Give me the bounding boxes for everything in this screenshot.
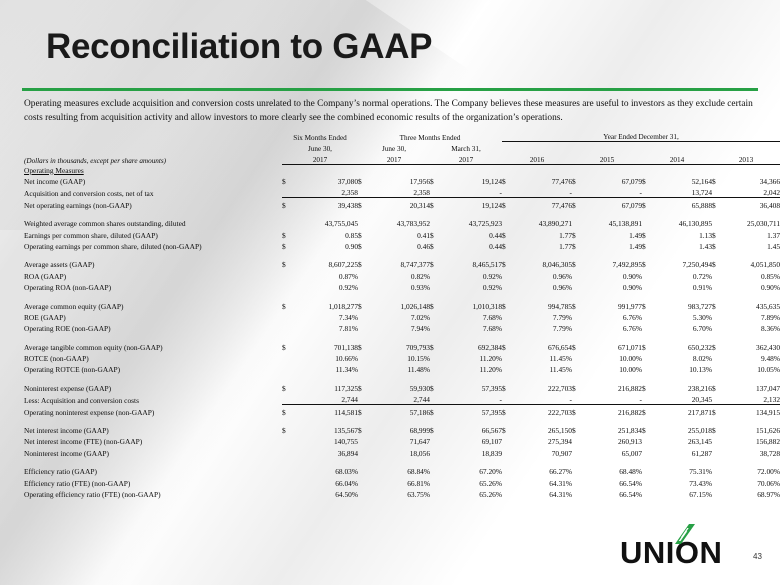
row-label: Average assets (GAAP)	[24, 258, 282, 269]
currency-symbol: $	[712, 198, 722, 210]
cell-value: 151,626	[722, 424, 780, 435]
cell-value: 0.72%	[652, 269, 712, 280]
cell-value: 71,647	[368, 435, 430, 446]
column-header-3: 2016	[502, 153, 572, 165]
currency-symbol	[430, 465, 440, 476]
cell-value: 70.06%	[722, 476, 780, 487]
currency-symbol	[502, 186, 512, 198]
cell-value: 8.02%	[652, 352, 712, 363]
currency-symbol	[642, 465, 652, 476]
row-label: Acquisition and conversion costs, net of…	[24, 186, 282, 198]
cell-value: 11.34%	[292, 363, 358, 374]
cell-value: 7,492,895	[582, 258, 642, 269]
section-label-operating-measures: Operating Measures	[24, 165, 282, 175]
currency-symbol: $	[358, 175, 368, 186]
row-label: Net interest income (GAAP)	[24, 424, 282, 435]
currency-symbol	[572, 363, 582, 374]
row-label: Net interest income (FTE) (non-GAAP)	[24, 435, 282, 446]
row-spacer	[24, 417, 780, 424]
cell-value: 1,018,277	[292, 299, 358, 310]
cell-value: 1.49	[582, 240, 642, 251]
table-header: Six Months Ended Three Months Ended Year…	[24, 130, 780, 175]
cell-value: 64.50%	[292, 488, 358, 499]
section-label-row: Operating Measures	[24, 165, 780, 175]
units-note: (Dollars in thousands, except per share …	[24, 153, 282, 165]
cell-value: 10.00%	[582, 352, 642, 363]
header-three-months-date-1: June 30,	[358, 142, 430, 154]
currency-symbol	[430, 311, 440, 322]
cell-value: 435,635	[722, 299, 780, 310]
table-row: ROA (GAAP)0.87%0.82%0.92%0.96%0.90%0.72%…	[24, 269, 780, 280]
currency-symbol	[642, 311, 652, 322]
currency-symbol: $	[502, 175, 512, 186]
cell-value: 68.48%	[582, 465, 642, 476]
currency-symbol	[502, 352, 512, 363]
column-header-1: 2017	[358, 153, 430, 165]
cell-value: 1.77	[512, 240, 572, 251]
cell-value: 43,783,952	[368, 217, 430, 228]
currency-symbol	[282, 488, 292, 499]
cell-value: 216,882	[582, 405, 642, 417]
cell-value: 66,567	[440, 424, 502, 435]
table-row: Noninterest expense (GAAP)$117,325$59,93…	[24, 381, 780, 392]
currency-symbol	[502, 488, 512, 499]
currency-symbol: $	[572, 299, 582, 310]
cell-value: 0.92%	[440, 269, 502, 280]
cell-value: 216,882	[582, 381, 642, 392]
cell-value: 66.54%	[582, 476, 642, 487]
cell-value: 39,438	[292, 198, 358, 210]
cell-value: 1.37	[722, 228, 780, 239]
cell-value: 36,408	[722, 198, 780, 210]
cell-value: 8,747,377	[368, 258, 430, 269]
cell-value: 7,250,494	[652, 258, 712, 269]
cell-value: 75.31%	[652, 465, 712, 476]
cell-value: 0.46	[368, 240, 430, 251]
currency-symbol: $	[358, 299, 368, 310]
currency-symbol	[712, 446, 722, 457]
cell-value: 45,138,891	[582, 217, 642, 228]
cell-value: 0.90	[292, 240, 358, 251]
cell-value: 0.87%	[292, 269, 358, 280]
currency-symbol	[430, 217, 440, 228]
cell-value: 10.66%	[292, 352, 358, 363]
cell-value: 11.20%	[440, 363, 502, 374]
table-row: Net operating earnings (non-GAAP)$39,438…	[24, 198, 780, 210]
cell-value: 0.44	[440, 240, 502, 251]
table-row: Earnings per common share, diluted (GAAP…	[24, 228, 780, 239]
table-row: Operating noninterest expense (non-GAAP)…	[24, 405, 780, 417]
currency-symbol	[642, 352, 652, 363]
cell-value: 117,325	[292, 381, 358, 392]
cell-value: 1.13	[652, 228, 712, 239]
cell-value: 0.92%	[292, 281, 358, 292]
currency-symbol	[712, 393, 722, 405]
cell-value: 2,358	[292, 186, 358, 198]
currency-symbol	[642, 281, 652, 292]
cell-value: 1.77	[512, 228, 572, 239]
row-label: Net income (GAAP)	[24, 175, 282, 186]
currency-symbol: $	[358, 340, 368, 351]
currency-symbol: $	[358, 240, 368, 251]
cell-value: 67.20%	[440, 465, 502, 476]
currency-symbol	[502, 393, 512, 405]
currency-symbol: $	[712, 405, 722, 417]
currency-symbol	[358, 281, 368, 292]
cell-value: 65,888	[652, 198, 712, 210]
cell-value: 18,839	[440, 446, 502, 457]
intro-paragraph: Operating measures exclude acquisition a…	[24, 97, 758, 125]
currency-symbol	[572, 352, 582, 363]
row-spacer	[24, 458, 780, 465]
currency-symbol	[572, 488, 582, 499]
cell-value: 25,030,711	[722, 217, 780, 228]
currency-symbol: $	[282, 424, 292, 435]
cell-value: 20,314	[368, 198, 430, 210]
cell-value: 37,080	[292, 175, 358, 186]
cell-value: 11.20%	[440, 352, 502, 363]
currency-symbol: $	[430, 175, 440, 186]
cell-value: 251,834	[582, 424, 642, 435]
cell-value: 265,150	[512, 424, 572, 435]
table-row: Acquisition and conversion costs, net of…	[24, 186, 780, 198]
cell-value: 7.89%	[722, 311, 780, 322]
cell-value: 77,476	[512, 198, 572, 210]
currency-symbol	[502, 446, 512, 457]
currency-symbol: $	[642, 340, 652, 351]
currency-symbol	[282, 465, 292, 476]
column-header-0: 2017	[282, 153, 358, 165]
currency-symbol: $	[642, 175, 652, 186]
logo-wordmark: UNION	[620, 536, 722, 570]
logo-stripes-icon	[675, 524, 697, 546]
cell-value: 57,395	[440, 381, 502, 392]
cell-value: 77,476	[512, 175, 572, 186]
currency-symbol: $	[282, 258, 292, 269]
row-label: Operating efficiency ratio (FTE) (non-GA…	[24, 488, 282, 499]
currency-symbol	[572, 281, 582, 292]
currency-symbol: $	[502, 240, 512, 251]
cell-value: -	[512, 186, 572, 198]
currency-symbol	[358, 352, 368, 363]
row-spacer	[24, 333, 780, 340]
cell-value: 20,345	[652, 393, 712, 405]
currency-symbol: $	[572, 340, 582, 351]
header-subdate-row: June 30, June 30, March 31,	[24, 142, 780, 154]
row-label: ROA (GAAP)	[24, 269, 282, 280]
row-label: Operating noninterest expense (non-GAAP)	[24, 405, 282, 417]
row-label: Less: Acquisition and conversion costs	[24, 393, 282, 405]
cell-value: 43,890,271	[512, 217, 572, 228]
currency-symbol: $	[572, 175, 582, 186]
cell-value: 701,138	[292, 340, 358, 351]
cell-value: 19,124	[440, 175, 502, 186]
currency-symbol	[282, 352, 292, 363]
cell-value: 1,026,148	[368, 299, 430, 310]
currency-symbol: $	[572, 258, 582, 269]
currency-symbol	[430, 186, 440, 198]
cell-value: 10.05%	[722, 363, 780, 374]
cell-value: 61,287	[652, 446, 712, 457]
currency-symbol: $	[572, 424, 582, 435]
currency-symbol	[282, 217, 292, 228]
header-year-ended: Year Ended December 31,	[502, 130, 780, 142]
cell-value: 46,130,895	[652, 217, 712, 228]
currency-symbol	[572, 446, 582, 457]
cell-value: 18,056	[368, 446, 430, 457]
cell-value: 709,793	[368, 340, 430, 351]
currency-symbol	[430, 352, 440, 363]
cell-value: 7.02%	[368, 311, 430, 322]
currency-symbol	[358, 488, 368, 499]
currency-symbol: $	[502, 258, 512, 269]
table-row: Net interest income (GAAP)$135,567$68,99…	[24, 424, 780, 435]
cell-value: 10.13%	[652, 363, 712, 374]
cell-value: 0.91%	[652, 281, 712, 292]
currency-symbol	[502, 217, 512, 228]
currency-symbol: $	[712, 340, 722, 351]
cell-value: 137,047	[722, 381, 780, 392]
currency-symbol	[572, 269, 582, 280]
table-row: Efficiency ratio (FTE) (non-GAAP)66.04%6…	[24, 476, 780, 487]
row-spacer	[24, 292, 780, 299]
currency-symbol	[282, 476, 292, 487]
cell-value: 73.43%	[652, 476, 712, 487]
currency-symbol	[502, 269, 512, 280]
cell-value: 9.48%	[722, 352, 780, 363]
cell-value: 238,216	[652, 381, 712, 392]
page-number: 43	[753, 552, 762, 561]
currency-symbol: $	[642, 405, 652, 417]
cell-value: 676,654	[512, 340, 572, 351]
currency-symbol: $	[358, 258, 368, 269]
table-row: Average tangible common equity (non-GAAP…	[24, 340, 780, 351]
currency-symbol	[712, 281, 722, 292]
row-label: Operating ROA (non-GAAP)	[24, 281, 282, 292]
currency-symbol	[712, 186, 722, 198]
currency-symbol	[282, 269, 292, 280]
cell-value: 68,999	[368, 424, 430, 435]
cell-value: 0.96%	[512, 281, 572, 292]
table-row: Net interest income (FTE) (non-GAAP)140,…	[24, 435, 780, 446]
currency-symbol	[572, 217, 582, 228]
currency-symbol: $	[642, 228, 652, 239]
currency-symbol: $	[642, 240, 652, 251]
column-header-4: 2015	[572, 153, 642, 165]
row-label: Operating ROTCE (non-GAAP)	[24, 363, 282, 374]
cell-value: 1,010,318	[440, 299, 502, 310]
cell-value: 8,046,305	[512, 258, 572, 269]
row-label: ROE (GAAP)	[24, 311, 282, 322]
currency-symbol	[358, 393, 368, 405]
row-label: Noninterest income (GAAP)	[24, 446, 282, 457]
currency-symbol: $	[430, 405, 440, 417]
currency-symbol	[502, 322, 512, 333]
cell-value: 0.90%	[722, 281, 780, 292]
cell-value: 66.81%	[368, 476, 430, 487]
currency-symbol	[712, 217, 722, 228]
currency-symbol	[642, 363, 652, 374]
currency-symbol	[282, 322, 292, 333]
currency-symbol: $	[430, 228, 440, 239]
currency-symbol	[430, 446, 440, 457]
table-row: Operating earnings per common share, dil…	[24, 240, 780, 251]
currency-symbol: $	[712, 240, 722, 251]
table-body: Net income (GAAP)$37,080$17,956$19,124$7…	[24, 175, 780, 499]
currency-symbol	[712, 311, 722, 322]
cell-value: 114,581	[292, 405, 358, 417]
cell-value: 7.68%	[440, 311, 502, 322]
table-row: ROE (GAAP)7.34%7.02%7.68%7.79%6.76%5.30%…	[24, 311, 780, 322]
currency-symbol	[430, 363, 440, 374]
currency-symbol: $	[572, 405, 582, 417]
currency-symbol	[358, 476, 368, 487]
currency-symbol: $	[282, 381, 292, 392]
cell-value: 0.82%	[368, 269, 430, 280]
currency-symbol	[642, 435, 652, 446]
currency-symbol	[642, 488, 652, 499]
cell-value: 0.41	[368, 228, 430, 239]
currency-symbol: $	[430, 340, 440, 351]
currency-symbol	[430, 476, 440, 487]
union-logo: UNION	[620, 536, 738, 570]
title-divider	[22, 88, 758, 91]
currency-symbol: $	[282, 175, 292, 186]
cell-value: 135,567	[292, 424, 358, 435]
currency-symbol	[430, 435, 440, 446]
cell-value: 2,042	[722, 186, 780, 198]
currency-symbol	[642, 446, 652, 457]
currency-symbol: $	[712, 175, 722, 186]
currency-symbol	[502, 476, 512, 487]
currency-symbol	[282, 311, 292, 322]
cell-value: 275,394	[512, 435, 572, 446]
cell-value: -	[440, 393, 502, 405]
row-spacer	[24, 210, 780, 217]
currency-symbol	[502, 311, 512, 322]
cell-value: 10.15%	[368, 352, 430, 363]
currency-symbol: $	[282, 299, 292, 310]
currency-symbol	[712, 352, 722, 363]
currency-symbol	[572, 322, 582, 333]
table-row: Operating ROE (non-GAAP)7.81%7.94%7.68%7…	[24, 322, 780, 333]
currency-symbol	[642, 322, 652, 333]
currency-symbol	[572, 435, 582, 446]
cell-value: 17,956	[368, 175, 430, 186]
cell-value: 255,018	[652, 424, 712, 435]
cell-value: 0.96%	[512, 269, 572, 280]
cell-value: 2,358	[368, 186, 430, 198]
currency-symbol	[430, 281, 440, 292]
currency-symbol: $	[282, 198, 292, 210]
row-label: Operating ROE (non-GAAP)	[24, 322, 282, 333]
cell-value: 0.92%	[440, 281, 502, 292]
currency-symbol	[358, 217, 368, 228]
currency-symbol: $	[642, 424, 652, 435]
currency-symbol: $	[502, 405, 512, 417]
cell-value: 7.81%	[292, 322, 358, 333]
cell-value: 72.00%	[722, 465, 780, 476]
currency-symbol: $	[358, 228, 368, 239]
cell-value: 68.97%	[722, 488, 780, 499]
cell-value: -	[512, 393, 572, 405]
currency-symbol	[642, 393, 652, 405]
currency-symbol	[712, 363, 722, 374]
currency-symbol	[642, 186, 652, 198]
cell-value: 2,744	[292, 393, 358, 405]
row-label: Earnings per common share, diluted (GAAP…	[24, 228, 282, 239]
cell-value: 8.36%	[722, 322, 780, 333]
cell-value: 0.93%	[368, 281, 430, 292]
column-header-5: 2014	[642, 153, 712, 165]
row-label: Average tangible common equity (non-GAAP…	[24, 340, 282, 351]
cell-value: 263,145	[652, 435, 712, 446]
currency-symbol: $	[712, 228, 722, 239]
currency-symbol: $	[430, 424, 440, 435]
cell-value: 0.90%	[582, 281, 642, 292]
currency-symbol: $	[358, 381, 368, 392]
currency-symbol	[282, 446, 292, 457]
cell-value: 69,107	[440, 435, 502, 446]
cell-value: 68.84%	[368, 465, 430, 476]
cell-value: 650,232	[652, 340, 712, 351]
header-three-months-date-2: March 31,	[430, 142, 502, 154]
cell-value: 67,079	[582, 198, 642, 210]
cell-value: 63.75%	[368, 488, 430, 499]
currency-symbol	[282, 393, 292, 405]
cell-value: 59,930	[368, 381, 430, 392]
table-row: Weighted average common shares outstandi…	[24, 217, 780, 228]
row-label: Net operating earnings (non-GAAP)	[24, 198, 282, 210]
currency-symbol	[282, 281, 292, 292]
cell-value: 38,728	[722, 446, 780, 457]
currency-symbol	[358, 311, 368, 322]
header-six-months-ended: Six Months Ended	[282, 130, 358, 142]
currency-symbol: $	[502, 381, 512, 392]
cell-value: -	[440, 186, 502, 198]
reconciliation-table: Six Months Ended Three Months Ended Year…	[24, 130, 780, 499]
table-row: Operating ROTCE (non-GAAP)11.34%11.48%11…	[24, 363, 780, 374]
header-group-row: Six Months Ended Three Months Ended Year…	[24, 130, 780, 142]
cell-value: 11.45%	[512, 352, 572, 363]
header-three-months-ended: Three Months Ended	[358, 130, 502, 142]
currency-symbol: $	[282, 340, 292, 351]
cell-value: 0.90%	[582, 269, 642, 280]
row-label: Operating earnings per common share, dil…	[24, 240, 282, 251]
cell-value: 65.26%	[440, 476, 502, 487]
cell-value: 43,755,045	[292, 217, 358, 228]
currency-symbol: $	[572, 240, 582, 251]
currency-symbol	[572, 465, 582, 476]
cell-value: 65.26%	[440, 488, 502, 499]
currency-symbol: $	[430, 240, 440, 251]
currency-symbol: $	[642, 381, 652, 392]
cell-value: 7.68%	[440, 322, 502, 333]
table-row: Less: Acquisition and conversion costs2,…	[24, 393, 780, 405]
currency-symbol: $	[502, 340, 512, 351]
row-label: Noninterest expense (GAAP)	[24, 381, 282, 392]
cell-value: -	[582, 186, 642, 198]
cell-value: 70,907	[512, 446, 572, 457]
currency-symbol	[430, 488, 440, 499]
currency-symbol	[358, 186, 368, 198]
cell-value: 52,164	[652, 175, 712, 186]
currency-symbol: $	[282, 228, 292, 239]
currency-symbol	[572, 311, 582, 322]
currency-symbol: $	[358, 198, 368, 210]
table-row: Average common equity (GAAP)$1,018,277$1…	[24, 299, 780, 310]
currency-symbol	[358, 446, 368, 457]
